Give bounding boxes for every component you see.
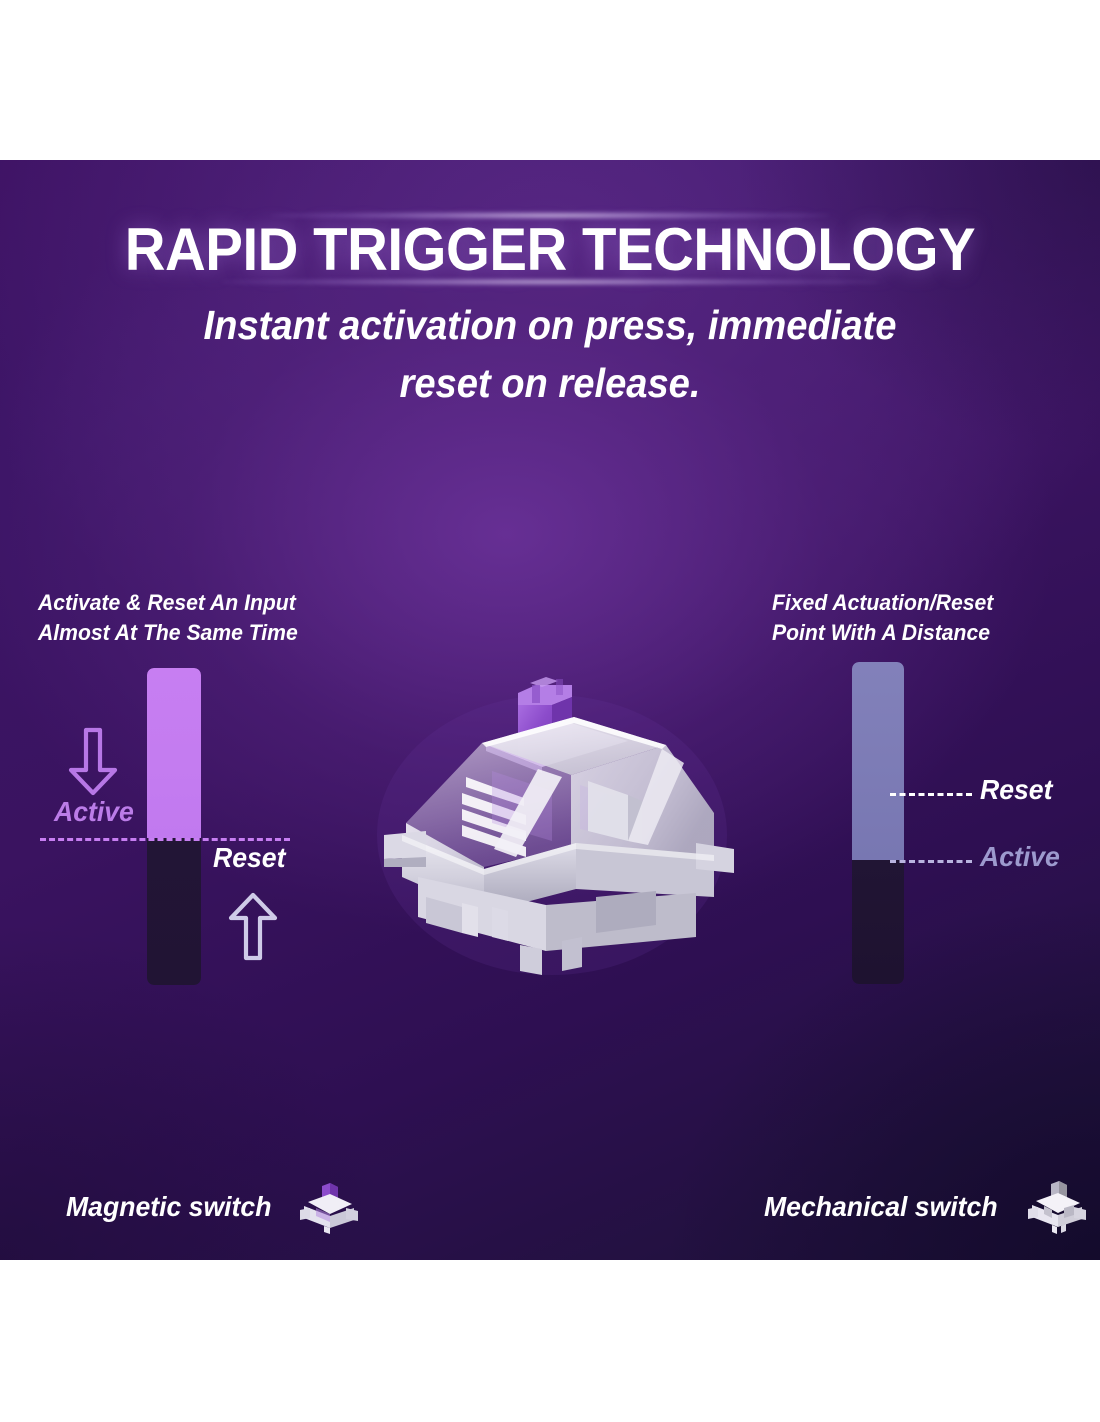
- magnetic-switch-icon: [296, 1178, 360, 1236]
- magnetic-column-heading: Activate & Reset An Input Almost At The …: [38, 588, 298, 648]
- keyboard-switch-render: [366, 645, 734, 975]
- mechanical-switch-footer: Mechanical switch: [764, 1178, 1088, 1236]
- infographic-canvas: RAPID TRIGGER TECHNOLOGY Instant activat…: [0, 0, 1100, 1422]
- mechanical-column-heading: Fixed Actuation/Reset Point With A Dista…: [772, 588, 993, 648]
- arrow-down-icon: [62, 726, 124, 803]
- mechanical-reset-label: Reset: [980, 774, 1052, 806]
- magnetic-switch-footer: Magnetic switch: [66, 1178, 360, 1236]
- mechanical-travel-bar: [852, 662, 904, 984]
- magnetic-threshold-dashed-line: [40, 838, 290, 841]
- magnetic-travel-bar: [147, 668, 201, 985]
- mechanical-bar-travel-segment: [852, 662, 904, 860]
- arrow-up-icon: [222, 890, 284, 967]
- mechanical-active-label: Active: [980, 841, 1060, 873]
- magnetic-bar-rest-segment: [147, 838, 201, 985]
- page-title: RAPID TRIGGER TECHNOLOGY: [33, 220, 1067, 280]
- magnetic-bar-active-segment: [147, 668, 201, 838]
- magnetic-reset-label: Reset: [213, 842, 285, 874]
- purple-panel: RAPID TRIGGER TECHNOLOGY Instant activat…: [0, 160, 1100, 1260]
- mechanical-switch-icon: [1024, 1178, 1088, 1236]
- mechanical-reset-dashed-line: [890, 793, 972, 796]
- page-subtitle: Instant activation on press, immediate r…: [178, 296, 922, 412]
- mechanical-active-dashed-line: [890, 860, 972, 863]
- mechanical-switch-footer-label: Mechanical switch: [764, 1191, 998, 1223]
- magnetic-switch-footer-label: Magnetic switch: [66, 1191, 271, 1223]
- mechanical-bar-rest-segment: [852, 860, 904, 984]
